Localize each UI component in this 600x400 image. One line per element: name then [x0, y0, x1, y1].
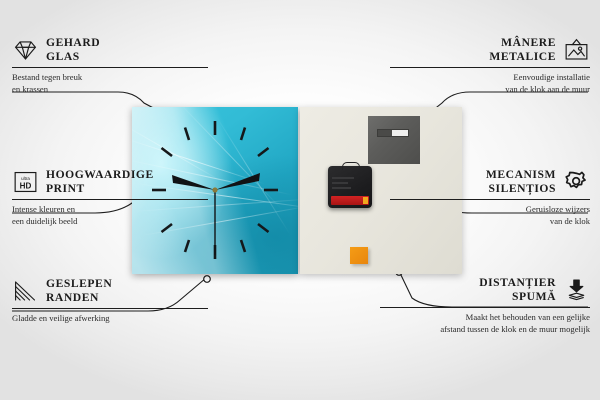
hanger-keyhole-slot [377, 129, 409, 137]
feature-desc-line2: een duidelijk beeld [12, 216, 77, 226]
feature-title-line2: METALICE [489, 50, 556, 63]
feature-divider [380, 307, 590, 308]
feature-mecanism-silentios[interactable]: MECANISM SILENȚIOS Geruisloze wijzers va… [390, 168, 590, 228]
feature-desc-line1: Eenvoudige installatie [513, 72, 590, 82]
diamond-icon [12, 38, 39, 62]
feature-title-line1: DISTANȚIER [479, 276, 556, 289]
feature-desc-line1: Bestand tegen breuk [12, 72, 82, 82]
feature-title-line2: PRINT [46, 182, 85, 195]
clock-center-cap [212, 187, 217, 192]
feature-distantier-spuma[interactable]: DISTANȚIER SPUMĂ Maakt het behouden van … [380, 276, 590, 336]
mechanism-ridge [332, 182, 348, 184]
feature-desc-line1: Maakt het behouden van een gelijke [466, 312, 590, 322]
feature-title-line1: GESLEPEN [46, 277, 112, 290]
feature-title-line2: RANDEN [46, 291, 99, 304]
feature-divider [390, 199, 590, 200]
feature-divider [12, 67, 208, 68]
infographic-canvas: GEHARD GLAS Bestand tegen breuk en krass… [0, 0, 600, 400]
beveled-edge-icon [12, 279, 39, 303]
gear-icon [563, 170, 590, 194]
feature-hoogwaardige-print[interactable]: ultra HD HOOGWAARDIGE PRINT Intense kleu… [12, 168, 208, 228]
feature-geslepen-randen[interactable]: GESLEPEN RANDEN Gladde en veilige afwerk… [12, 277, 208, 325]
feature-title-line2: SILENȚIOS [489, 182, 556, 195]
spacer-layers-icon [563, 278, 590, 302]
feature-title-line1: GEHARD [46, 36, 100, 49]
feature-divider [12, 308, 208, 309]
metal-hanger-plate [368, 116, 420, 164]
feature-desc-line2: afstand tussen de klok en de muur mogeli… [440, 324, 590, 334]
feature-desc-line1: Gladde en veilige afwerking [12, 313, 110, 323]
feature-desc-line2: van de klok aan de muur [505, 84, 590, 94]
feature-desc-line2: en krassen [12, 84, 48, 94]
feature-title-line2: SPUMĂ [512, 290, 556, 303]
feature-desc-line1: Geruisloze wijzers [526, 204, 590, 214]
svg-text:HD: HD [20, 181, 32, 190]
feature-title-line2: GLAS [46, 50, 80, 63]
feature-manere-metalice[interactable]: MÂNERE METALICE Eenvoudige installatie v… [390, 36, 590, 96]
feature-title-line1: MÂNERE [501, 36, 556, 49]
aa-battery [331, 196, 369, 205]
feature-desc-line2: van de klok [550, 216, 590, 226]
feature-divider [12, 199, 208, 200]
feature-gehard-glas[interactable]: GEHARD GLAS Bestand tegen breuk en krass… [12, 36, 208, 96]
mechanism-ridge [332, 187, 351, 189]
feature-title-line1: HOOGWAARDIGE [46, 168, 154, 181]
mechanism-ridge [332, 177, 354, 179]
feature-title-line1: MECANISM [486, 168, 556, 181]
clock-mechanism-housing [328, 166, 372, 208]
foam-spacer [350, 247, 368, 264]
feature-desc-line1: Intense kleuren en [12, 204, 75, 214]
feature-divider [390, 67, 590, 68]
minute-hand [215, 173, 260, 190]
mechanism-hanging-loop [342, 162, 360, 170]
ultra-hd-icon: ultra HD [12, 170, 39, 194]
picture-frame-icon [563, 38, 590, 62]
